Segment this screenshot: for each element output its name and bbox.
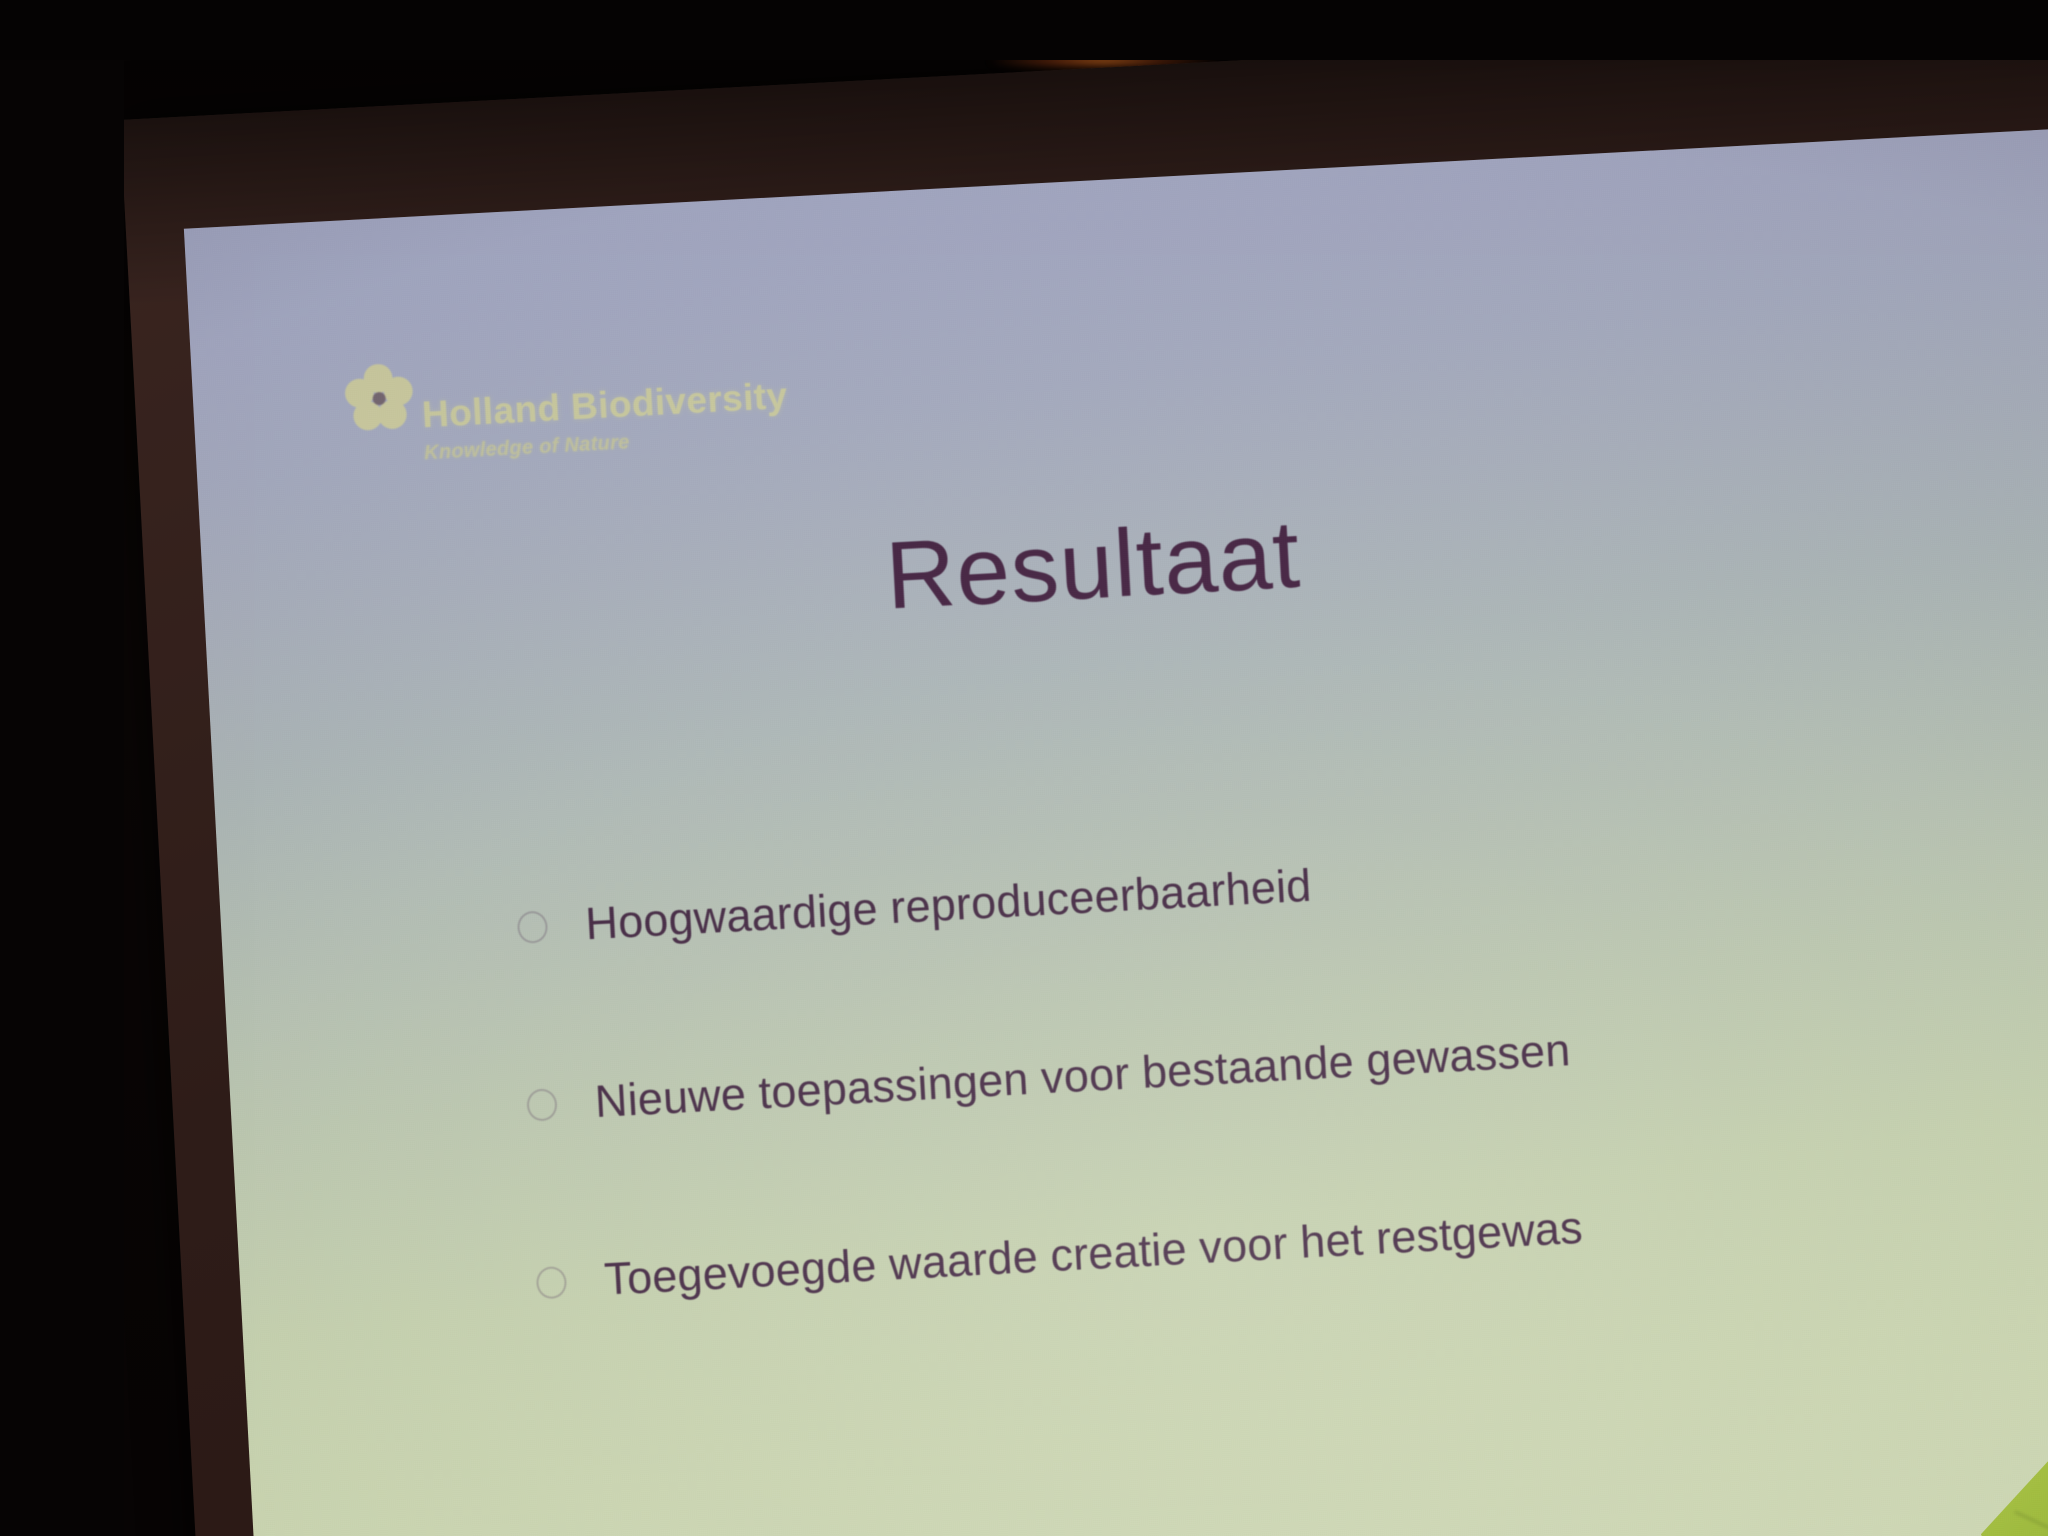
list-item-label: Nieuwe toepassingen voor bestaande gewas… [594,1024,1572,1128]
projection-screen-frame: Holland Biodiversity Knowledge of Nature… [120,10,2048,1536]
left-dark-edge [0,0,124,1536]
list-item: Nieuwe toepassingen voor bestaande gewas… [525,996,2026,1136]
decorative-crop-image [1764,1289,2048,1536]
list-item-label: Toegevoegde waarde creatie voor het rest… [603,1202,1584,1306]
top-dark-edge [0,0,2048,60]
green-faceted-shape [1957,1375,2048,1536]
brand-text-group: Holland Biodiversity Knowledge of Nature [421,377,790,465]
flower-icon [341,361,417,437]
list-item: Hoogwaardige reproduceerbaarheid [516,818,2017,958]
hollow-circle-bullet-icon [517,910,549,944]
hollow-circle-bullet-icon [536,1266,568,1300]
hollow-circle-bullet-icon [526,1088,558,1122]
list-item: Toegevoegde waarde creatie voor het rest… [535,1174,2036,1314]
brand-logo: Holland Biodiversity Knowledge of Nature [342,347,790,469]
screenshot-stage: Holland Biodiversity Knowledge of Nature… [0,0,2048,1536]
presentation-slide: Holland Biodiversity Knowledge of Nature… [184,122,2048,1536]
list-item-label: Hoogwaardige reproduceerbaarheid [584,860,1313,951]
slide-title: Resultaat [201,451,2048,668]
